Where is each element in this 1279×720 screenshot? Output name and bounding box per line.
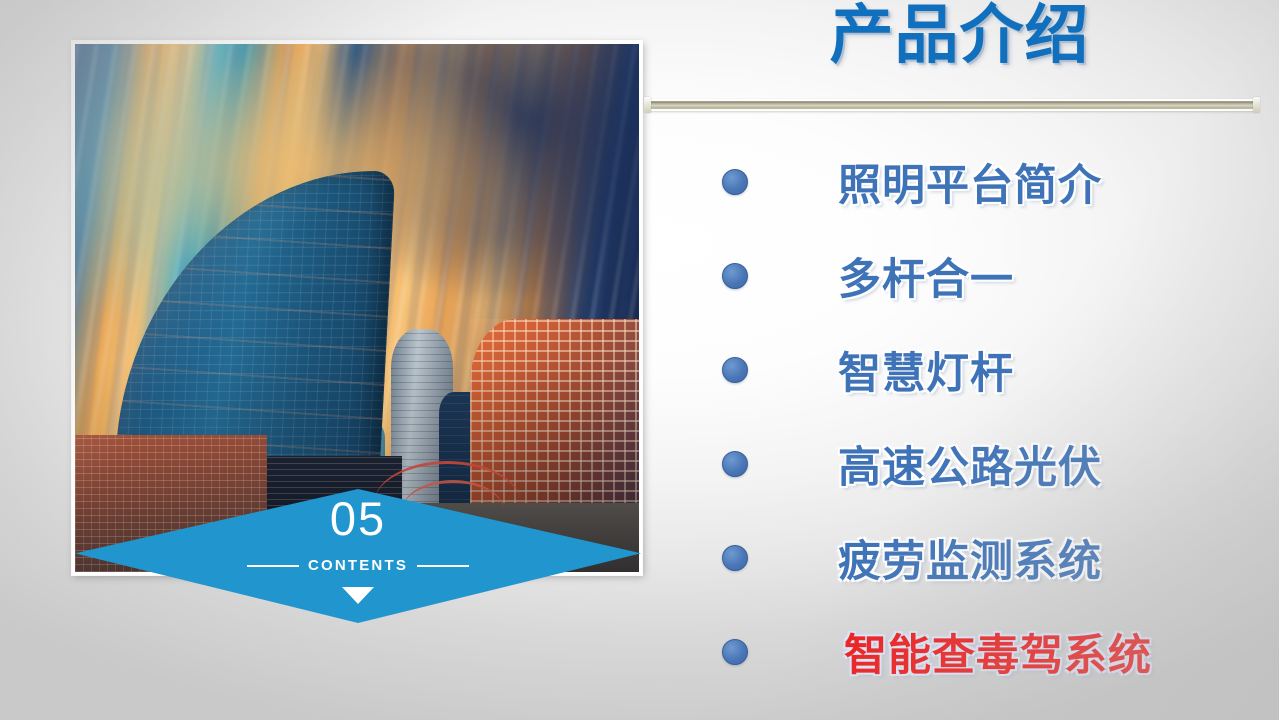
bullet-dot-icon (722, 357, 748, 383)
list-item[interactable]: 高速公路光伏 (640, 417, 1279, 511)
contents-label-group: CONTENTS (75, 557, 641, 574)
bullet-dot-icon (722, 169, 748, 195)
bullet-dot-icon (722, 451, 748, 477)
rule-left-line (247, 565, 299, 567)
bullet-dot-icon (722, 545, 748, 571)
agenda-list: 照明平台简介 多杆合一 智慧灯杆 高速公路光伏 疲劳监测系统 智能查毒驾系统 (640, 135, 1279, 699)
list-item-label: 疲劳监测系统 (838, 527, 1102, 589)
page-title: 产品介绍 (640, 2, 1279, 69)
list-item[interactable]: 智慧灯杆 (640, 323, 1279, 417)
title-divider (648, 99, 1256, 111)
rule-right-line (417, 565, 469, 567)
caret-down-icon (342, 587, 374, 604)
contents-label: CONTENTS (308, 557, 408, 574)
list-item-label-highlighted: 智能查毒驾系统 (844, 621, 1152, 683)
list-item[interactable]: 疲劳监测系统 (640, 511, 1279, 605)
list-item-label: 高速公路光伏 (838, 433, 1102, 495)
list-item[interactable]: 智能查毒驾系统 (640, 605, 1279, 699)
slide-canvas: 05 CONTENTS 产品介绍 照明平台简介 多杆合一 智慧灯杆 高速公路光伏 (0, 0, 1279, 720)
list-item-label: 智慧灯杆 (838, 339, 1014, 401)
list-item[interactable]: 多杆合一 (640, 229, 1279, 323)
list-item[interactable]: 照明平台简介 (640, 135, 1279, 229)
bullet-dot-icon (722, 639, 748, 665)
list-item-label: 照明平台简介 (838, 151, 1102, 213)
list-item-label: 多杆合一 (838, 245, 1014, 307)
bullet-dot-icon (722, 263, 748, 289)
